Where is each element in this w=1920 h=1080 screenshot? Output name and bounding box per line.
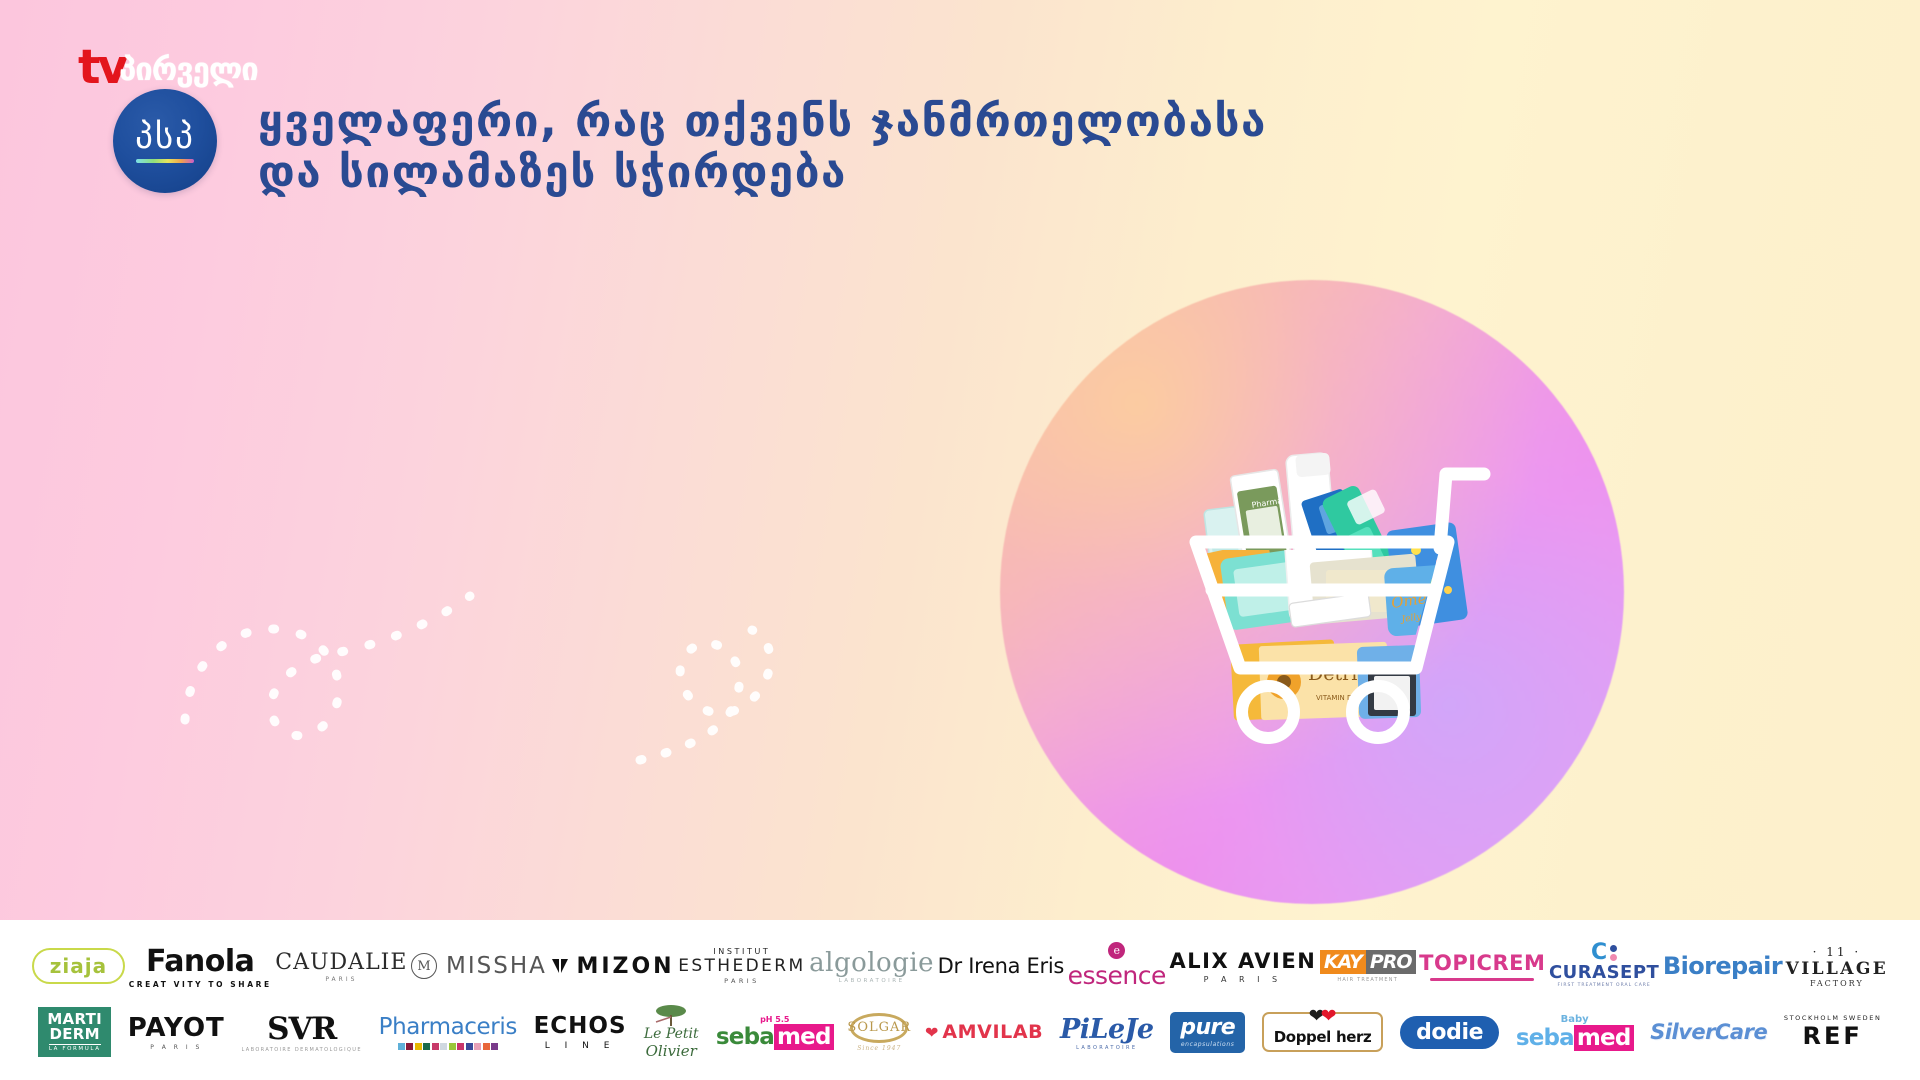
esthederm-sub: PARIS bbox=[724, 977, 760, 985]
logo-row-1: ziaja Fanola CREAT VITY TO SHARE CAUDALI… bbox=[30, 933, 1890, 999]
essence-e-icon: e bbox=[1108, 942, 1125, 959]
echos-label: ECHOS bbox=[534, 1013, 627, 1039]
brand-logo-echos-line[interactable]: ECHOS L I N E bbox=[534, 1003, 627, 1061]
amvilab-label: AMVILAB bbox=[942, 1021, 1043, 1043]
brand-logo-village-factory[interactable]: · 11 · VILLAGE FACTORY bbox=[1786, 937, 1889, 995]
olive-tree-icon bbox=[650, 1004, 692, 1026]
village-sub: FACTORY bbox=[1810, 979, 1864, 988]
curasept-label: CURASEPT bbox=[1549, 962, 1659, 983]
missha-row: M MISSHA bbox=[411, 953, 547, 979]
pure-box: pure encapsulations bbox=[1170, 1012, 1245, 1053]
alix-avien-sub: P A R I S bbox=[1204, 975, 1282, 984]
pileje-sub: LABORATOIRE bbox=[1076, 1045, 1137, 1051]
brand-logo-alix-avien[interactable]: ALIX AVIEN P A R I S bbox=[1170, 937, 1317, 995]
brand-logo-baby-sebamed[interactable]: Baby seba med bbox=[1516, 1003, 1634, 1061]
svr-label: SVR bbox=[267, 1011, 336, 1047]
brand-logo-pure-encapsulations[interactable]: pure encapsulations bbox=[1170, 1003, 1245, 1061]
amvilab-row: ❤ AMVILAB bbox=[925, 1021, 1043, 1043]
algologie-label: algologie bbox=[809, 948, 934, 978]
topicrem-underline bbox=[1430, 978, 1534, 981]
curasept-dots-icon bbox=[1610, 945, 1617, 961]
brand-logo-topicrem[interactable]: TOPICREM bbox=[1419, 937, 1545, 995]
brand-logo-institut-esthederm[interactable]: INSTITUT ESTHEDERM PARIS bbox=[678, 937, 805, 995]
brand-logo-payot[interactable]: PAYOT P A R I S bbox=[128, 1003, 225, 1061]
dr-irena-eris-label: Dr Irena Eris bbox=[938, 954, 1064, 978]
page-title: ყველაფერი, რაც თქვენს ჯანმრთელობასა და ს… bbox=[258, 96, 1438, 198]
brand-logo-martiderm[interactable]: MARTI DERM LA FORMULA bbox=[38, 1003, 111, 1061]
kaypro-sub: HAIR TREATMENT bbox=[1337, 977, 1398, 983]
shopping-cart-illustration: Pharma bbox=[1140, 430, 1520, 760]
psp-rainbow-bar bbox=[136, 159, 194, 163]
curasept-mark-row: C bbox=[1591, 944, 1617, 962]
solgar-ring-icon: SOLGAR bbox=[850, 1013, 908, 1043]
ziaja-label: ziaja bbox=[32, 948, 125, 984]
missha-label: MISSHA bbox=[446, 953, 547, 979]
algologie-sub: LABORATOIRE bbox=[839, 978, 905, 984]
brand-logo-sebamed[interactable]: pH 5.5 seba med bbox=[716, 1003, 834, 1061]
le-petit-label-1: Le Petit bbox=[644, 1026, 699, 1042]
brand-logo-dr-irena-eris[interactable]: Dr Irena Eris bbox=[938, 937, 1064, 995]
topicrem-label: TOPICREM bbox=[1419, 951, 1545, 975]
psp-brand-badge: პსპ bbox=[113, 89, 217, 193]
doppelherz-label-1: Doppel bbox=[1274, 1028, 1331, 1046]
curasept-sub: FIRST TREATMENT ORAL CARE bbox=[1558, 983, 1651, 988]
dodie-label: dodie bbox=[1400, 1016, 1499, 1049]
tv-channel-logo: tv პირველი bbox=[78, 42, 258, 89]
cart-outline-icon bbox=[1140, 430, 1520, 760]
baby-sebamed-label-1: seba bbox=[1516, 1025, 1574, 1051]
baby-sebamed-row: seba med bbox=[1516, 1025, 1634, 1051]
mizon-row: MIZON bbox=[550, 954, 674, 979]
solgar-label: SOLGAR bbox=[847, 1020, 911, 1035]
psp-badge-label: პსპ bbox=[135, 120, 195, 155]
headline-line-1: ყველაფერი, რაც თქვენს ჯანმრთელობასა bbox=[258, 96, 1267, 147]
sebamed-label-2: med bbox=[774, 1024, 834, 1050]
kaypro-row: KAY PRO bbox=[1320, 950, 1416, 974]
brand-logo-ziaja[interactable]: ziaja bbox=[32, 937, 125, 995]
kaypro-label-kay: KAY bbox=[1320, 950, 1366, 974]
brand-logo-caudalie[interactable]: CAUDALIE PARIS bbox=[275, 937, 407, 995]
baby-sebamed-label-2: med bbox=[1574, 1025, 1634, 1051]
solgar-sub: Since 1947 bbox=[857, 1045, 901, 1052]
alix-avien-label: ALIX AVIEN bbox=[1170, 949, 1317, 973]
baby-sebamed-top: Baby bbox=[1561, 1014, 1589, 1025]
pure-sub: encapsulations bbox=[1181, 1041, 1235, 1048]
double-heart-icon: ❤❤ bbox=[1274, 1005, 1372, 1027]
le-petit-label-2: Olivier bbox=[646, 1042, 697, 1060]
brand-logo-essence[interactable]: e essence bbox=[1068, 937, 1166, 995]
mizon-label: MIZON bbox=[576, 954, 674, 979]
missha-m-icon: M bbox=[411, 953, 437, 979]
mizon-leaf-icon bbox=[550, 956, 570, 976]
sebamed-row: seba med bbox=[716, 1024, 834, 1050]
pileje-label: PiLeJe bbox=[1060, 1014, 1154, 1045]
svr-sub: LABORATOIRE DERMATOLOGIQUE bbox=[241, 1047, 361, 1053]
brand-logo-curasept[interactable]: C CURASEPT FIRST TREATMENT ORAL CARE bbox=[1549, 937, 1659, 995]
fanola-tagline: CREAT VITY TO SHARE bbox=[129, 980, 272, 989]
brand-logo-ref-stockholm[interactable]: STOCKHOLM SWEDEN REF bbox=[1784, 1003, 1882, 1061]
brand-logo-doppelherz[interactable]: ❤❤ Doppel herz bbox=[1262, 1003, 1384, 1061]
partner-logo-strip: ziaja Fanola CREAT VITY TO SHARE CAUDALI… bbox=[0, 920, 1920, 1080]
payot-sub: P A R I S bbox=[150, 1044, 202, 1051]
ref-label: REF bbox=[1803, 1022, 1863, 1050]
esthederm-label: ESTHEDERM bbox=[678, 956, 805, 976]
pure-label: pure bbox=[1180, 1017, 1235, 1039]
promo-slide: tv პირველი პსპ ყველაფერი, რაც თქვენს ჯან… bbox=[0, 0, 1920, 1080]
sebamed-ph-badge: pH 5.5 bbox=[760, 1015, 789, 1024]
echos-sub: L I N E bbox=[545, 1041, 616, 1051]
brand-logo-dodie[interactable]: dodie bbox=[1400, 1003, 1499, 1061]
brand-logo-amvilab[interactable]: ❤ AMVILAB bbox=[925, 1003, 1043, 1061]
doppelherz-box: ❤❤ Doppel herz bbox=[1262, 1012, 1384, 1052]
esthederm-top: INSTITUT bbox=[713, 947, 770, 956]
curasept-c-icon: C bbox=[1591, 944, 1607, 962]
headline-line-2: და სილამაზეს სჭირდება bbox=[258, 147, 1438, 198]
silver-care-label: SilverCare bbox=[1650, 1020, 1767, 1044]
brand-logo-silver-care[interactable]: SilverCare bbox=[1650, 1003, 1767, 1061]
sebamed-label-1: seba bbox=[716, 1024, 774, 1050]
caudalie-label: CAUDALIE bbox=[275, 950, 407, 975]
heart-icon: ❤ bbox=[925, 1023, 938, 1042]
tv-logo-word: პირველი bbox=[119, 55, 258, 86]
brand-logo-mizon[interactable]: MIZON bbox=[550, 937, 674, 995]
biorepair-label: Biorepair bbox=[1663, 952, 1782, 980]
brand-logo-fanola[interactable]: Fanola CREAT VITY TO SHARE bbox=[129, 937, 272, 995]
caudalie-sub: PARIS bbox=[325, 976, 357, 983]
brand-logo-pharmaceris[interactable]: Pharmaceris bbox=[379, 1003, 517, 1061]
village-number: · 11 · bbox=[1813, 945, 1862, 959]
village-label: VILLAGE bbox=[1786, 959, 1889, 979]
doppelherz-label-2: herz bbox=[1336, 1028, 1371, 1046]
brand-logo-missha[interactable]: M MISSHA bbox=[411, 937, 547, 995]
payot-label: PAYOT bbox=[128, 1013, 225, 1043]
brand-logo-le-petit-olivier[interactable]: Le Petit Olivier bbox=[643, 1003, 699, 1061]
brand-logo-svr[interactable]: SVR LABORATOIRE DERMATOLOGIQUE bbox=[241, 1003, 361, 1061]
fanola-label: Fanola bbox=[146, 944, 254, 979]
brand-logo-algologie[interactable]: algologie LABORATOIRE bbox=[809, 937, 934, 995]
brand-logo-kaypro[interactable]: KAY PRO HAIR TREATMENT bbox=[1320, 937, 1416, 995]
brand-logo-pileje[interactable]: PiLeJe LABORATOIRE bbox=[1060, 1003, 1154, 1061]
brand-logo-biorepair[interactable]: Biorepair bbox=[1663, 937, 1782, 995]
pharmaceris-color-swatches bbox=[398, 1043, 499, 1050]
pharmaceris-label: Pharmaceris bbox=[379, 1014, 517, 1040]
kaypro-label-pro: PRO bbox=[1366, 950, 1416, 974]
ref-top: STOCKHOLM SWEDEN bbox=[1784, 1014, 1882, 1022]
logo-row-2: MARTI DERM LA FORMULA PAYOT P A R I S SV… bbox=[30, 999, 1890, 1065]
martiderm-box: MARTI DERM LA FORMULA bbox=[38, 1007, 111, 1057]
martiderm-label-2: DERM bbox=[50, 1027, 100, 1042]
essence-label: essence bbox=[1068, 961, 1166, 990]
brand-logo-solgar[interactable]: SOLGAR Since 1947 bbox=[850, 1003, 908, 1061]
martiderm-sub: LA FORMULA bbox=[49, 1044, 101, 1052]
